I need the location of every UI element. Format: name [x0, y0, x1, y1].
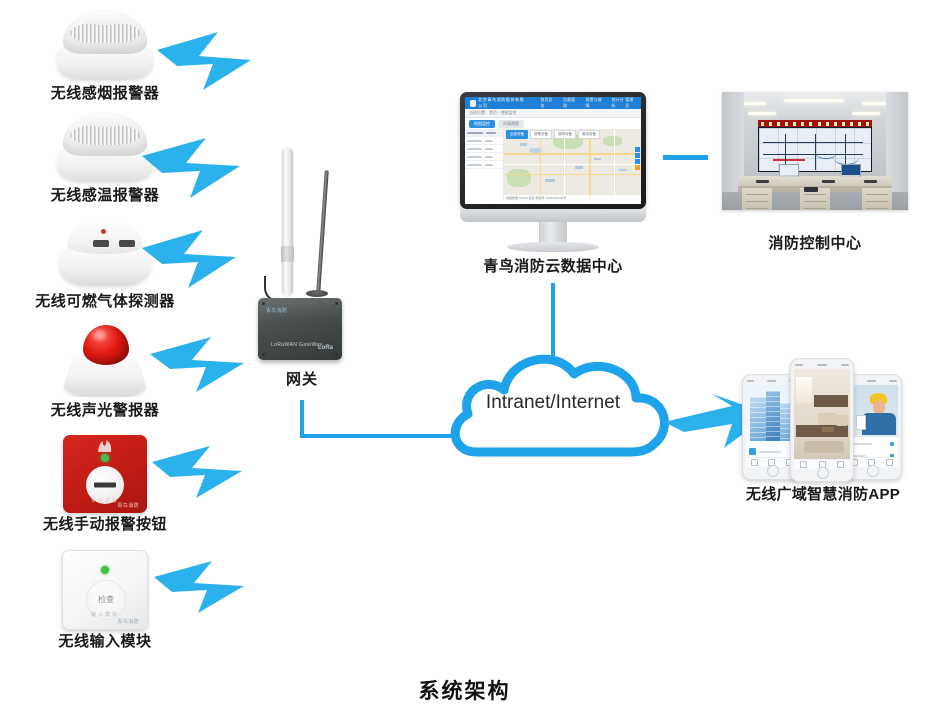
list-item[interactable]	[465, 145, 503, 153]
map-view-button[interactable]: 地图监控	[469, 120, 495, 128]
list-header	[465, 129, 503, 137]
laptop-icon	[840, 164, 860, 177]
gateway-device: 青鸟消防 LoRaWAN GateWay LoRa 网关	[246, 140, 386, 400]
map-tiles	[504, 129, 641, 201]
video-wall-banner	[758, 120, 872, 127]
brand-mark: 青鸟消防	[117, 502, 139, 509]
control-room-photo	[722, 92, 908, 210]
nav-item[interactable]: 统计分析	[612, 97, 626, 109]
map-attribution: 地图数据 ©2018 百度 审图号 GS(2018)000号	[504, 195, 641, 201]
lora-mark: LoRa	[318, 345, 333, 351]
wireless-link-lightning-icon	[155, 22, 255, 94]
wireless-link-lightning-icon	[140, 130, 245, 202]
app-toolbar: 地图监控 列表视图	[465, 118, 641, 129]
app-user-menu[interactable]: 管理员	[625, 97, 636, 109]
map-tab[interactable]: 全部设备	[506, 130, 528, 139]
gateway-model-text: LoRaWAN GateWay	[271, 342, 322, 348]
wireless-link-lightning-icon	[140, 222, 240, 292]
list-item[interactable]	[465, 161, 503, 169]
fire-control-center: 消防控制中心	[722, 92, 912, 272]
brand-mark: 青鸟消防	[117, 618, 139, 625]
list-view-button[interactable]: 列表视图	[498, 120, 524, 128]
home-button-icon[interactable]	[867, 465, 879, 477]
app-brand-text: 北京青鸟消防股份有限公司	[478, 97, 527, 109]
home-button-icon[interactable]	[817, 467, 829, 479]
home-button-icon[interactable]	[767, 465, 779, 477]
cloud-data-center-label: 青鸟消防云数据中心	[453, 255, 653, 276]
diagram-title: 系统架构	[0, 675, 929, 705]
device-label: 无线手动报警按钮	[0, 517, 210, 532]
mobile-app-label: 无线广域智慧消防APP	[728, 483, 918, 504]
nav-item[interactable]: 首页总览	[540, 97, 554, 109]
nav-item[interactable]: 设备管理	[563, 97, 577, 109]
alert-icon	[749, 448, 756, 455]
app-logo-icon	[470, 100, 476, 107]
wireless-link-lightning-icon	[150, 440, 245, 502]
list-item[interactable]	[465, 137, 503, 145]
app-body: 全部设备 报警设备 故障设备 离线设备 地图数据 ©2018 百度 审图号 GS…	[465, 129, 641, 201]
map-tab[interactable]: 报警设备	[530, 130, 552, 139]
control-center-label: 消防控制中心	[722, 232, 908, 253]
app-device-list	[465, 129, 504, 201]
monitor-neck	[539, 222, 567, 244]
wireless-link-lightning-icon	[152, 555, 247, 617]
status-bar	[795, 362, 849, 367]
app-breadcrumb: 当前位置：首页 / 地图监控	[465, 109, 641, 118]
fire-hand-glyph-icon	[94, 439, 116, 454]
network-cloud: Intranet/Internet	[440, 340, 690, 470]
system-architecture-diagram: 无线感烟报警器 无线感温报警器 无线可燃气体探测器	[0, 0, 929, 714]
app-topbar: 北京青鸟消防股份有限公司 首页总览 设备管理 报警与故障 统计分析 管理员	[465, 97, 641, 109]
monitor-chin	[460, 209, 646, 222]
input-module-micro-text: 输入模块	[63, 611, 147, 618]
device-label: 无线可燃气体探测器	[0, 294, 210, 309]
gateway-antenna-thin	[316, 170, 329, 296]
device-label: 无线输入模块	[0, 634, 210, 649]
gateway-label: 网关	[246, 368, 358, 389]
wireless-link-lightning-icon	[148, 330, 248, 396]
cloud-label: Intranet/Internet	[440, 392, 666, 414]
device-label: 无线声光警报器	[0, 403, 210, 418]
phone-site-video	[790, 358, 854, 482]
map-tab[interactable]: 故障设备	[554, 130, 576, 139]
list-item[interactable]	[465, 153, 503, 161]
connector-gateway-vertical	[300, 400, 304, 438]
input-module-knob-text: 检查	[87, 594, 125, 605]
gateway-brand: 青鸟消防	[266, 307, 287, 314]
monitor-bezel: 北京青鸟消防股份有限公司 首页总览 设备管理 报警与故障 统计分析 管理员 当前…	[460, 92, 646, 209]
laptop-icon	[778, 164, 798, 177]
nav-item[interactable]: 报警与故障	[586, 97, 603, 109]
monitor-stand	[507, 242, 599, 252]
app-brand: 北京青鸟消防股份有限公司	[470, 97, 527, 109]
cloud-data-center: 北京青鸟消防股份有限公司 首页总览 设备管理 报警与故障 统计分析 管理员 当前…	[460, 92, 660, 277]
mobile-app-group: 无线广域智慧消防APP	[742, 358, 922, 508]
map-canvas[interactable]: 全部设备 报警设备 故障设备 离线设备 地图数据 ©2018 百度 审图号 GS…	[504, 129, 641, 201]
map-tools[interactable]	[635, 147, 640, 171]
desk-phone-icon	[804, 187, 818, 192]
monitor-screen: 北京青鸟消防股份有限公司 首页总览 设备管理 报警与故障 统计分析 管理员 当前…	[465, 97, 641, 204]
gateway-antenna-base	[306, 290, 328, 297]
map-tab[interactable]: 离线设备	[578, 130, 600, 139]
map-filter-tabs[interactable]: 全部设备 报警设备 故障设备 离线设备	[506, 130, 600, 139]
connector-data-center-to-control-room	[663, 155, 708, 160]
status-bar	[847, 378, 897, 383]
gateway-chassis: 青鸟消防 LoRaWAN GateWay LoRa	[258, 298, 342, 360]
gateway-antenna-thick	[282, 148, 293, 296]
app-nav: 首页总览 设备管理 报警与故障 统计分析	[540, 97, 625, 109]
